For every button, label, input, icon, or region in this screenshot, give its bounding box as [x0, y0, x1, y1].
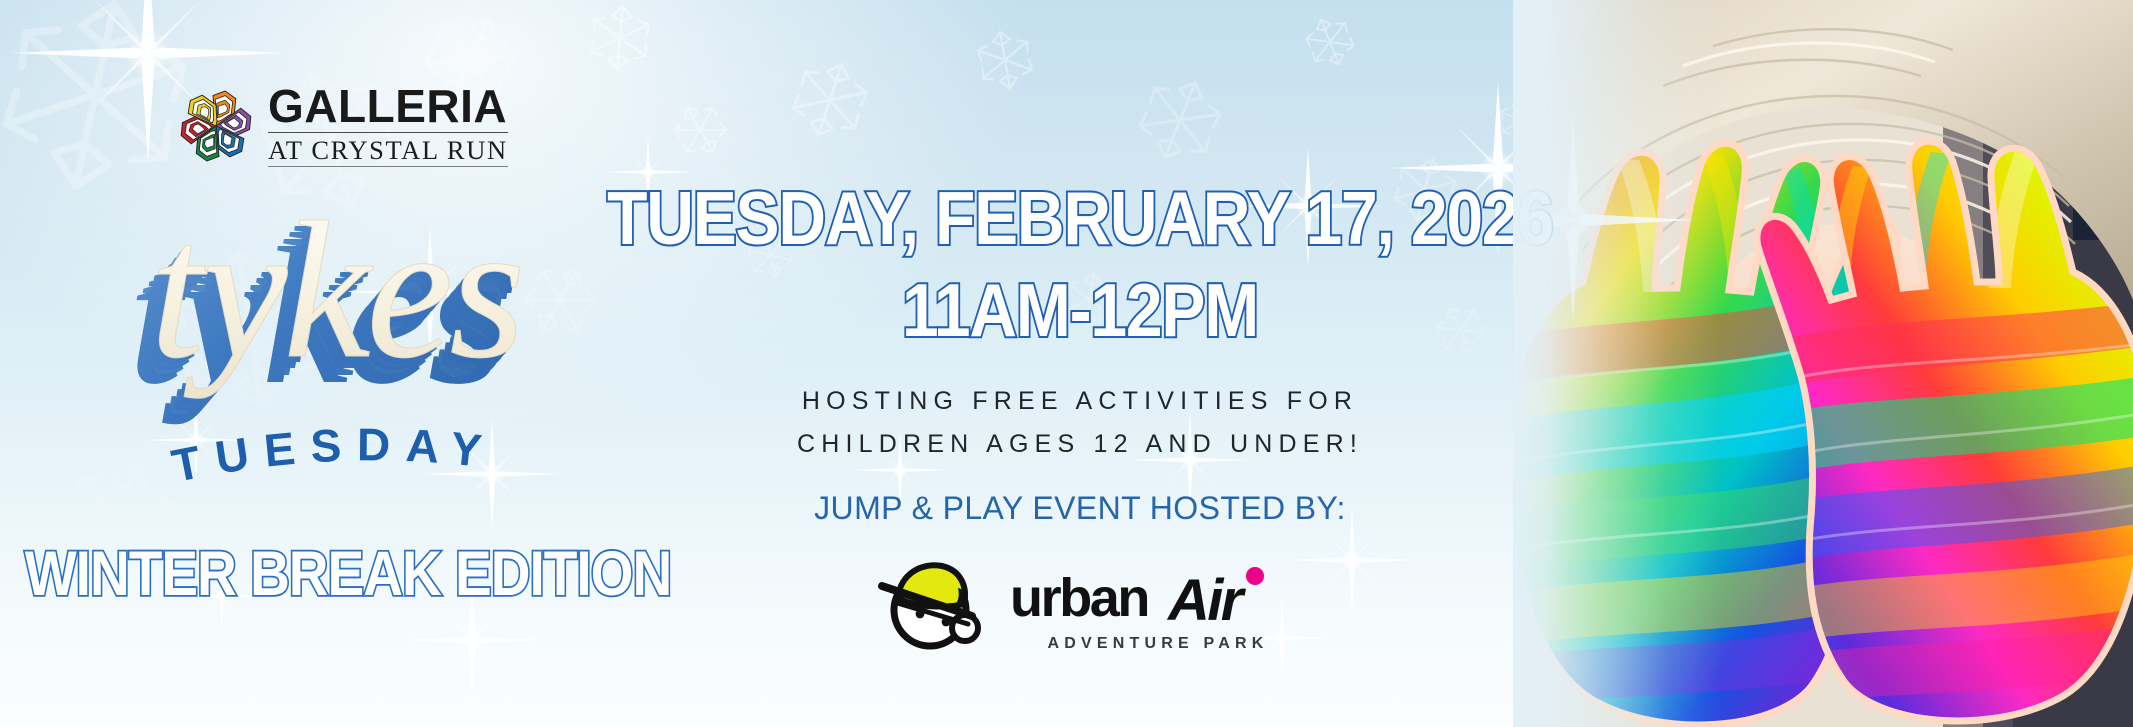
- urban-air-dot-icon: [1246, 567, 1264, 585]
- winter-edition-text: WINTER BREAK EDITION: [25, 540, 672, 609]
- tuesday-arc-text: TUESDAY: [168, 418, 499, 492]
- urban-air-tagline: ADVENTURE PARK: [1048, 635, 1269, 652]
- galleria-wordmark: GALLERIA AT CRYSTAL RUN: [268, 84, 508, 167]
- event-date-text: TUESDAY, FEBRUARY 17, 2026: [607, 176, 1553, 260]
- event-description: HOSTING FREE ACTIVITIES FOR CHILDREN AGE…: [600, 380, 1560, 466]
- event-time-text: 11AM-12PM: [902, 268, 1258, 352]
- urban-air-name-2: Air: [1166, 568, 1247, 633]
- svg-text:TUESDAY: TUESDAY: [168, 418, 499, 492]
- galleria-name: GALLERIA: [268, 84, 508, 133]
- tykes-tuesday-subtitle: TUESDAY: [150, 424, 570, 510]
- galleria-logo[interactable]: GALLERIA AT CRYSTAL RUN: [178, 84, 508, 167]
- event-description-line-2: CHILDREN AGES 12 AND UNDER!: [600, 423, 1560, 466]
- hosted-by-label: JUMP & PLAY EVENT HOSTED BY:: [600, 490, 1560, 527]
- left-branding-column: GALLERIA AT CRYSTAL RUN: [0, 0, 700, 727]
- tykes-wordmark: tykes tykes tykes tykes tykes: [140, 196, 610, 416]
- child-painted-hands-photo: [1513, 0, 2133, 727]
- event-date-line: TUESDAY, FEBRUARY 17, 2026: [600, 176, 1560, 268]
- urban-air-name-1: urban: [1010, 568, 1148, 628]
- tykes-text: tykes: [150, 182, 522, 399]
- galleria-pinwheel-icon: [178, 88, 254, 164]
- event-details-column: TUESDAY, FEBRUARY 17, 2026 11AM-12PM HOS…: [600, 0, 1560, 727]
- galleria-location: AT CRYSTAL RUN: [268, 133, 508, 167]
- promotional-banner: GALLERIA AT CRYSTAL RUN: [0, 0, 2133, 727]
- winter-break-edition-label: WINTER BREAK EDITION: [28, 543, 668, 615]
- urban-air-mascot-icon: [882, 565, 978, 646]
- event-time-line: 11AM-12PM: [600, 272, 1560, 358]
- urban-air-logo[interactable]: urban Air ADVENTURE PARK: [868, 552, 1298, 660]
- event-description-line-1: HOSTING FREE ACTIVITIES FOR: [600, 380, 1560, 423]
